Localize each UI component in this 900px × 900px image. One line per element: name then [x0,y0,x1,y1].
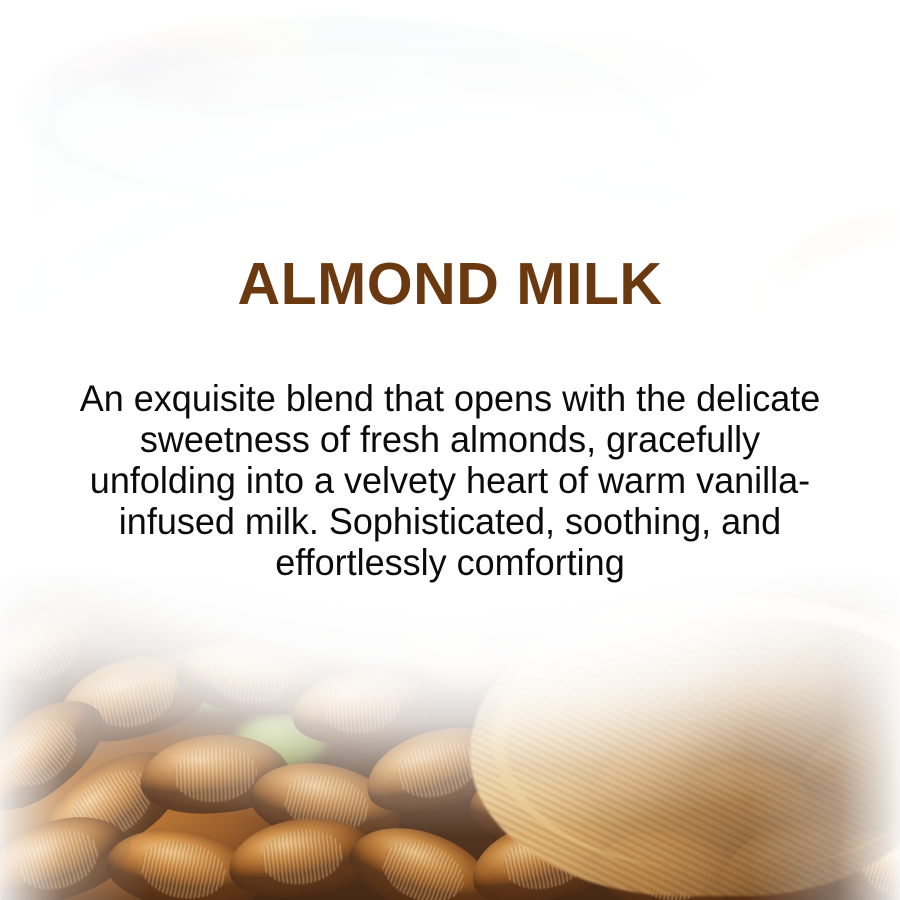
poster-content: ALMOND MILK An exquisite blend that open… [0,0,900,900]
product-description: An exquisite blend that opens with the d… [66,378,834,583]
page-title: ALMOND MILK [0,255,900,314]
almond-milk-poster: ALMOND MILK An exquisite blend that open… [0,0,900,900]
